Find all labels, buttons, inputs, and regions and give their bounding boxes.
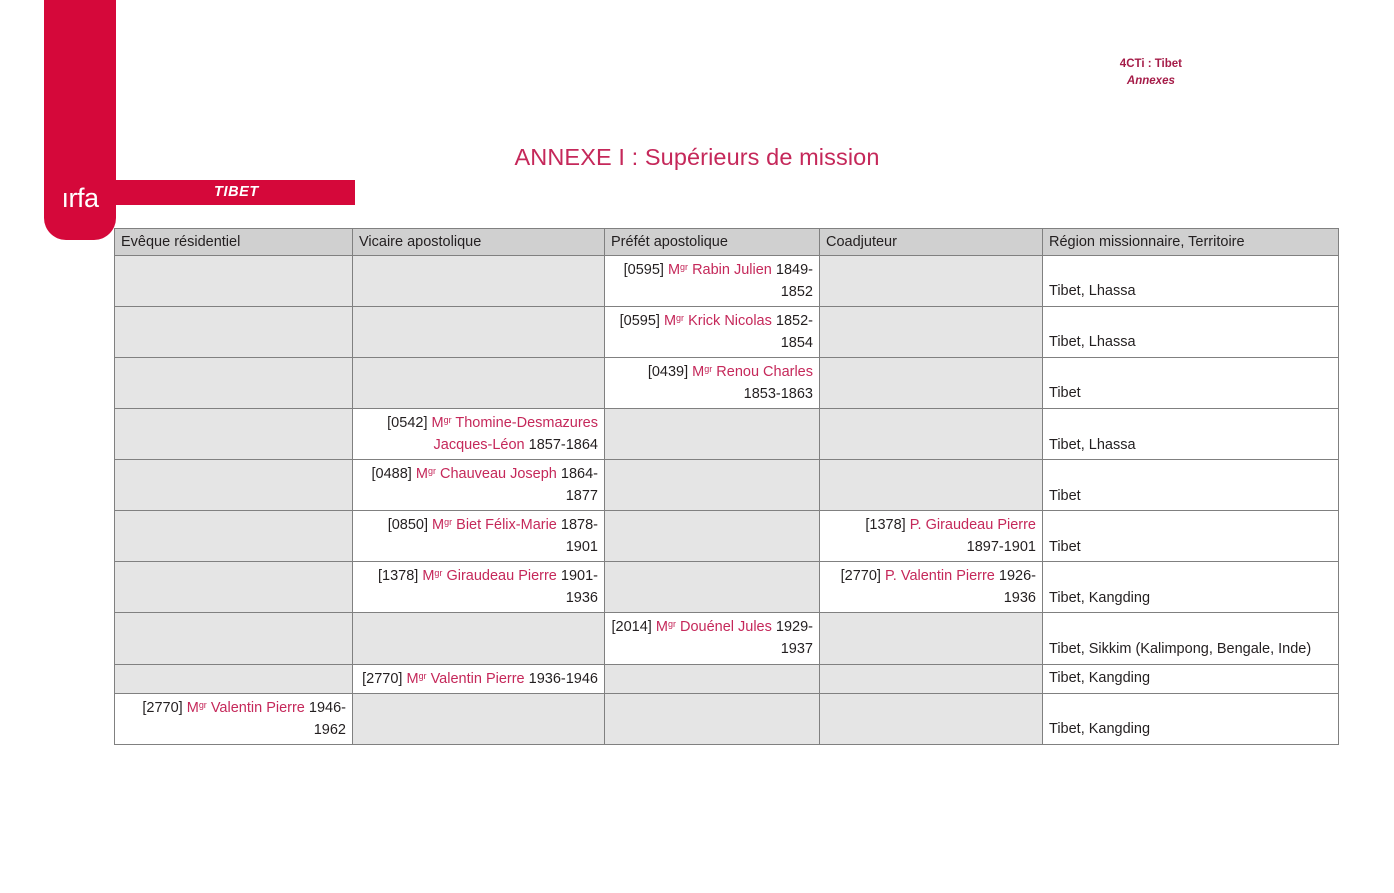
page-title: ANNEXE I : Supérieurs de mission	[0, 144, 1394, 171]
person-name: Mgr Chauveau Joseph	[416, 466, 557, 482]
table-row: [0595] Mgr Rabin Julien 1849-1852Tibet, …	[115, 256, 1339, 307]
person-code: [1378]	[865, 517, 909, 533]
cell-prefet-apostolique	[605, 664, 820, 693]
cell-prefet-apostolique: [0595] Mgr Krick Nicolas 1852-1854	[605, 307, 820, 358]
cell-vicaire-apostolique	[353, 693, 605, 744]
person-name: Mgr Rabin Julien	[668, 262, 772, 278]
cell-eveque-residentiel	[115, 562, 353, 613]
doc-meta-reference: 4CTi : Tibet	[1120, 56, 1182, 73]
cell-eveque-residentiel: [2770] Mgr Valentin Pierre 1946-1962	[115, 693, 353, 744]
cell-region-territoire: Tibet, Lhassa	[1043, 307, 1339, 358]
cell-coadjuteur	[820, 358, 1043, 409]
cell-region-territoire: Tibet, Sikkim (Kalimpong, Bengale, Inde)	[1043, 613, 1339, 664]
cell-prefet-apostolique	[605, 511, 820, 562]
person-name: Mgr Giraudeau Pierre	[422, 568, 557, 584]
cell-vicaire-apostolique: [0850] Mgr Biet Félix-Marie 1878-1901	[353, 511, 605, 562]
table-row: [0488] Mgr Chauveau Joseph 1864-1877Tibe…	[115, 460, 1339, 511]
cell-prefet-apostolique: [2014] Mgr Douénel Jules 1929-1937	[605, 613, 820, 664]
person-name: Mgr Renou Charles	[692, 364, 813, 380]
cell-prefet-apostolique: [0595] Mgr Rabin Julien 1849-1852	[605, 256, 820, 307]
cell-region-territoire: Tibet, Lhassa	[1043, 256, 1339, 307]
table-row: [0542] Mgr Thomine-Desmazures Jacques-Lé…	[115, 409, 1339, 460]
table-row: [2014] Mgr Douénel Jules 1929-1937Tibet,…	[115, 613, 1339, 664]
person-code: [2770]	[841, 568, 885, 584]
cell-eveque-residentiel	[115, 613, 353, 664]
person-name: P. Giraudeau Pierre	[910, 517, 1036, 533]
column-header-prefet-apostolique: Préfét apostolique	[605, 229, 820, 256]
table-row: [0850] Mgr Biet Félix-Marie 1878-1901[13…	[115, 511, 1339, 562]
cell-eveque-residentiel	[115, 511, 353, 562]
person-years: 1849-1852	[772, 262, 813, 300]
person-name: Mgr Krick Nicolas	[664, 313, 772, 329]
person-code: [0850]	[388, 517, 432, 533]
column-header-region-territoire: Région missionnaire, Territoire	[1043, 229, 1339, 256]
cell-eveque-residentiel	[115, 358, 353, 409]
person-years: 1946-1962	[305, 700, 346, 738]
cell-region-territoire: Tibet, Lhassa	[1043, 409, 1339, 460]
person-code: [1378]	[378, 568, 422, 584]
table-header: Evêque résidentiel Vicaire apostolique P…	[115, 229, 1339, 256]
cell-eveque-residentiel	[115, 664, 353, 693]
cell-region-territoire: Tibet	[1043, 511, 1339, 562]
cell-coadjuteur	[820, 693, 1043, 744]
person-years: 1864-1877	[557, 466, 598, 504]
person-code: [2770]	[142, 700, 186, 716]
person-code: [0595]	[620, 313, 664, 329]
cell-coadjuteur	[820, 613, 1043, 664]
cell-eveque-residentiel	[115, 256, 353, 307]
cell-coadjuteur: [1378] P. Giraudeau Pierre 1897-1901	[820, 511, 1043, 562]
doc-meta-section: Annexes	[1120, 73, 1182, 90]
person-code: [0439]	[648, 364, 692, 380]
cell-coadjuteur	[820, 664, 1043, 693]
cell-vicaire-apostolique	[353, 256, 605, 307]
table-row: [1378] Mgr Giraudeau Pierre 1901-1936[27…	[115, 562, 1339, 613]
column-header-coadjuteur: Coadjuteur	[820, 229, 1043, 256]
person-years: 1901-1936	[557, 568, 598, 606]
cell-prefet-apostolique	[605, 693, 820, 744]
cell-vicaire-apostolique	[353, 358, 605, 409]
person-name: Mgr Douénel Jules	[656, 619, 772, 635]
table-row: [0439] Mgr Renou Charles 1853-1863Tibet	[115, 358, 1339, 409]
tibet-banner: TIBET	[114, 180, 355, 205]
cell-prefet-apostolique	[605, 562, 820, 613]
cell-eveque-residentiel	[115, 460, 353, 511]
irfa-logo: ırfa	[44, 181, 116, 215]
cell-vicaire-apostolique: [2770] Mgr Valentin Pierre 1936-1946	[353, 664, 605, 693]
cell-vicaire-apostolique: [0488] Mgr Chauveau Joseph 1864-1877	[353, 460, 605, 511]
person-years: 1929-1937	[772, 619, 813, 657]
person-name: Mgr Biet Félix-Marie	[432, 517, 557, 533]
person-code: [2014]	[612, 619, 656, 635]
cell-vicaire-apostolique	[353, 613, 605, 664]
cell-region-territoire: Tibet, Kangding	[1043, 693, 1339, 744]
table-row: [2770] Mgr Valentin Pierre 1946-1962Tibe…	[115, 693, 1339, 744]
table-row: [2770] Mgr Valentin Pierre 1936-1946Tibe…	[115, 664, 1339, 693]
cell-region-territoire: Tibet	[1043, 358, 1339, 409]
cell-region-territoire: Tibet, Kangding	[1043, 562, 1339, 613]
person-code: [0595]	[624, 262, 668, 278]
cell-eveque-residentiel	[115, 409, 353, 460]
tibet-banner-label: TIBET	[114, 180, 355, 205]
cell-coadjuteur	[820, 256, 1043, 307]
superiors-table: Evêque résidentiel Vicaire apostolique P…	[114, 228, 1339, 745]
person-years: 1897-1901	[967, 539, 1036, 555]
table-body: [0595] Mgr Rabin Julien 1849-1852Tibet, …	[115, 256, 1339, 745]
column-header-vicaire-apostolique: Vicaire apostolique	[353, 229, 605, 256]
cell-vicaire-apostolique: [1378] Mgr Giraudeau Pierre 1901-1936	[353, 562, 605, 613]
cell-coadjuteur	[820, 307, 1043, 358]
person-years: 1926-1936	[995, 568, 1036, 606]
cell-region-territoire: Tibet	[1043, 460, 1339, 511]
cell-coadjuteur	[820, 409, 1043, 460]
person-years: 1857-1864	[525, 437, 598, 453]
cell-region-territoire: Tibet, Kangding	[1043, 664, 1339, 693]
document-meta: 4CTi : Tibet Annexes	[1120, 56, 1182, 89]
cell-coadjuteur: [2770] P. Valentin Pierre 1926-1936	[820, 562, 1043, 613]
person-name: Mgr Valentin Pierre	[187, 700, 305, 716]
table-header-row: Evêque résidentiel Vicaire apostolique P…	[115, 229, 1339, 256]
cell-prefet-apostolique	[605, 409, 820, 460]
person-code: [0488]	[372, 466, 416, 482]
person-code: [0542]	[387, 415, 431, 431]
person-years: 1852-1854	[772, 313, 813, 351]
person-years: 1853-1863	[744, 386, 813, 402]
table-row: [0595] Mgr Krick Nicolas 1852-1854Tibet,…	[115, 307, 1339, 358]
cell-prefet-apostolique	[605, 460, 820, 511]
cell-vicaire-apostolique: [0542] Mgr Thomine-Desmazures Jacques-Lé…	[353, 409, 605, 460]
cell-vicaire-apostolique	[353, 307, 605, 358]
cell-coadjuteur	[820, 460, 1043, 511]
person-code: [2770]	[362, 671, 406, 687]
cell-eveque-residentiel	[115, 307, 353, 358]
cell-prefet-apostolique: [0439] Mgr Renou Charles 1853-1863	[605, 358, 820, 409]
person-name: P. Valentin Pierre	[885, 568, 995, 584]
person-name: Mgr Valentin Pierre	[406, 671, 524, 687]
person-years: 1936-1946	[525, 671, 598, 687]
column-header-eveque-residentiel: Evêque résidentiel	[115, 229, 353, 256]
person-years: 1878-1901	[557, 517, 598, 555]
